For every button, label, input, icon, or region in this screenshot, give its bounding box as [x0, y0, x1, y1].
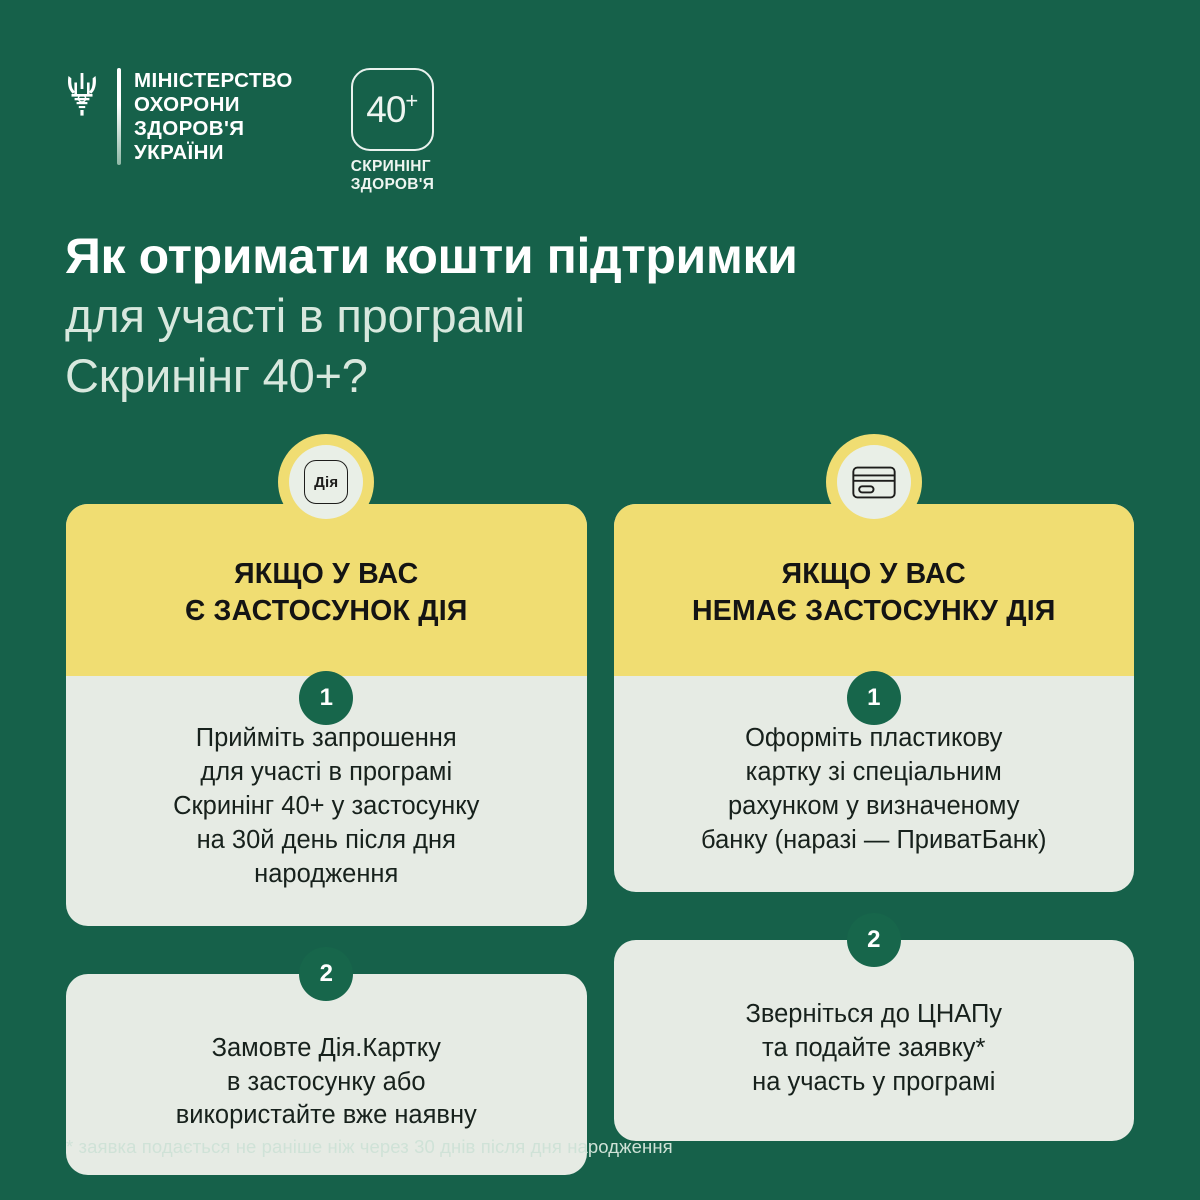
ukraine-trident-icon: [62, 70, 102, 118]
option-title-line-1-left: ЯКЩО У ВАС: [90, 556, 563, 593]
option-card-right: ЯКЩО У ВАС НЕМАЄ ЗАСТОСУНКУ ДІЯ 1 Оформі…: [614, 504, 1135, 892]
option-column-no-dia: ЯКЩО У ВАС НЕМАЄ ЗАСТОСУНКУ ДІЯ 1 Оформі…: [614, 470, 1135, 1175]
screening-number: 40: [366, 91, 405, 128]
option-title-line-2-right: НЕМАЄ ЗАСТОСУНКУ ДІЯ: [638, 593, 1111, 630]
step-text-line: картку зі спеціальним: [636, 756, 1113, 790]
step-text-line: для участі в програмі: [88, 756, 565, 790]
dia-app-icon: Дія: [304, 460, 348, 504]
screening-subtitle: СКРИНІНГ ЗДОРОВ'Я: [351, 158, 434, 193]
screening-logo: 40+ СКРИНІНГ ЗДОРОВ'Я: [351, 68, 434, 193]
step-text-line: Скринінг 40+ у застосунку: [88, 790, 565, 824]
screening-sub-line-2: ЗДОРОВ'Я: [351, 176, 434, 194]
step-text-line: та подайте заявку*: [636, 1032, 1113, 1066]
headline-line-1: Як отримати кошти підтримки: [65, 226, 1095, 286]
ministry-line-2: ОХОРОНИ: [134, 93, 293, 117]
page-title: Як отримати кошти підтримки для участі в…: [65, 226, 1095, 404]
option-card-right-2: Зверніться до ЦНАПу та подайте заявку* н…: [614, 940, 1135, 1142]
step-text-line: на участь у програмі: [636, 1066, 1113, 1100]
ministry-name: МІНІСТЕРСТВО ОХОРОНИ ЗДОРОВ'Я УКРАЇНИ: [134, 68, 293, 165]
badge-wrap-left: Дія: [66, 470, 587, 504]
ministry-line-4: УКРАЇНИ: [134, 141, 293, 165]
option-icon-badge-right: [826, 434, 922, 530]
brand-header: МІНІСТЕРСТВО ОХОРОНИ ЗДОРОВ'Я УКРАЇНИ 40…: [62, 68, 434, 193]
step-text-line: Оформіть пластикову: [636, 722, 1113, 756]
step-text-line: народження: [88, 858, 565, 892]
option-title-line-1-right: ЯКЩО У ВАС: [638, 556, 1111, 593]
headline-line-3: Скринінг 40+?: [65, 346, 1095, 405]
headline-line-2: для участі в програмі: [65, 286, 1095, 345]
step-text-line: Зверніться до ЦНАПу: [636, 998, 1113, 1032]
footnote: * заявка подається не раніше ніж через 3…: [66, 1136, 673, 1158]
ministry-line-1: МІНІСТЕРСТВО: [134, 69, 293, 93]
step-number-badge-left-1: 1: [299, 671, 353, 725]
step-text-line: рахунком у визначеному: [636, 790, 1113, 824]
options-columns: Дія ЯКЩО У ВАС Є ЗАСТОСУНОК ДІЯ 1 Приймі…: [66, 470, 1134, 1175]
option-column-has-dia: Дія ЯКЩО У ВАС Є ЗАСТОСУНОК ДІЯ 1 Приймі…: [66, 470, 587, 1175]
screening-plus: +: [405, 90, 418, 112]
ministry-logo: МІНІСТЕРСТВО ОХОРОНИ ЗДОРОВ'Я УКРАЇНИ: [62, 68, 293, 165]
badge-inner-left: Дія: [289, 445, 363, 519]
screening-40plus-box: 40+: [351, 68, 434, 151]
logo-divider: [117, 68, 121, 165]
ministry-line-3: ЗДОРОВ'Я: [134, 117, 293, 141]
screening-sub-line-1: СКРИНІНГ: [351, 158, 434, 176]
badge-wrap-right: [614, 470, 1135, 504]
step-text-line: в застосунку або: [88, 1066, 565, 1100]
step-text-line: на 30й день після дня: [88, 824, 565, 858]
step-text-line: використайте вже наявну: [88, 1099, 565, 1133]
step-text-line: Замовте Дія.Картку: [88, 1032, 565, 1066]
step-number-badge-right-1: 1: [847, 671, 901, 725]
badge-inner-right: [837, 445, 911, 519]
step-number-badge-right-2: 2: [847, 913, 901, 967]
step-number-badge-left-2: 2: [299, 947, 353, 1001]
step-text-line: банку (наразі — ПриватБанк): [636, 824, 1113, 858]
step-text-line: Прийміть запрошення: [88, 722, 565, 756]
option-card2-wrap-right: 2 Зверніться до ЦНАПу та подайте заявку*…: [614, 940, 1135, 1142]
bank-card-icon: [852, 466, 896, 499]
option-icon-badge-left: Дія: [278, 434, 374, 530]
option-title-line-2-left: Є ЗАСТОСУНОК ДІЯ: [90, 593, 563, 630]
option-card-left: ЯКЩО У ВАС Є ЗАСТОСУНОК ДІЯ 1 Прийміть з…: [66, 504, 587, 926]
